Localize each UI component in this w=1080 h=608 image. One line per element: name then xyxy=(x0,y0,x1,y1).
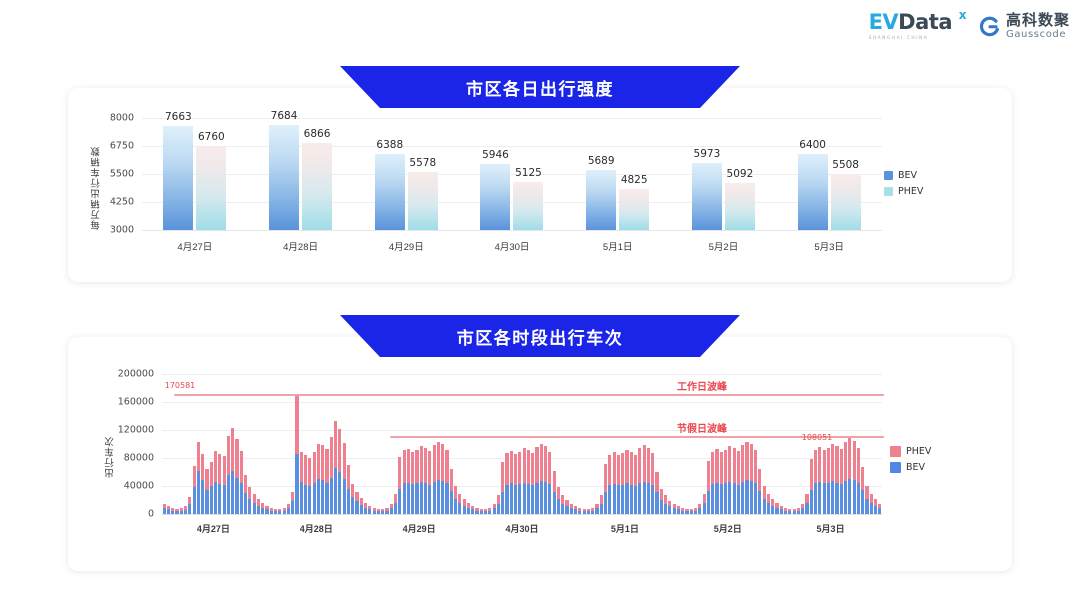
chart2-segment-phev xyxy=(441,444,444,481)
chart2-stacked-bar[interactable] xyxy=(377,509,380,514)
chart1-bar-value-label: 5125 xyxy=(515,167,542,179)
chart2-stacked-bar[interactable] xyxy=(621,453,624,514)
chart2-stacked-bar[interactable] xyxy=(523,448,526,514)
chart2-stacked-bar[interactable] xyxy=(574,506,577,514)
chart2-segment-bev xyxy=(338,472,341,514)
chart2-segment-phev xyxy=(201,454,204,481)
chart2-stacked-bar[interactable] xyxy=(231,428,234,514)
chart2-segment-phev xyxy=(664,495,667,503)
chart2-segment-phev xyxy=(707,461,710,491)
chart2-segment-phev xyxy=(703,494,706,503)
chart2-segment-phev xyxy=(741,445,744,482)
chart2-stacked-bar[interactable] xyxy=(244,475,247,514)
chart2-segment-phev xyxy=(338,429,341,472)
chart2-stacked-bar[interactable] xyxy=(411,452,414,514)
chart2-stacked-bar[interactable] xyxy=(535,447,538,514)
chart2-segment-bev xyxy=(257,506,260,514)
chart2-stacked-bar[interactable] xyxy=(454,486,457,514)
chart2-stacked-bar[interactable] xyxy=(270,508,273,514)
chart1-bar-value-label: 5578 xyxy=(409,157,436,169)
chart1-legend-item-bev[interactable]: BEV xyxy=(884,170,923,181)
chart2-stacked-bar[interactable] xyxy=(424,448,427,514)
chart2-stacked-bar[interactable] xyxy=(707,461,710,514)
chart1-bar-phev[interactable]: 4825 xyxy=(619,189,649,230)
chart2-segment-phev xyxy=(433,445,436,482)
chart2-stacked-bar[interactable] xyxy=(660,489,663,514)
chart2-stacked-bar[interactable] xyxy=(878,504,881,514)
chart2-segment-bev xyxy=(308,486,311,514)
chart1-x-tick: 4月29日 xyxy=(389,239,424,253)
chart2-stacked-bar[interactable] xyxy=(373,508,376,514)
chart2-stacked-bar[interactable] xyxy=(677,506,680,514)
chart2-stacked-bar[interactable] xyxy=(703,494,706,514)
chart2-segment-phev xyxy=(535,447,538,483)
chart2-segment-bev xyxy=(523,483,526,515)
chart2-segment-phev xyxy=(630,452,633,485)
chart2-stacked-bar[interactable] xyxy=(261,503,264,514)
chart2-stacked-bar[interactable] xyxy=(355,492,358,514)
chart2-stacked-bar[interactable] xyxy=(630,452,633,514)
chart2-stacked-bar[interactable] xyxy=(733,448,736,514)
chart2-stacked-bar[interactable] xyxy=(818,447,821,514)
chart2-segment-bev xyxy=(655,492,658,514)
chart2-stacked-bar[interactable] xyxy=(338,429,341,514)
chart2-stacked-bar[interactable] xyxy=(651,453,654,514)
chart2-segment-phev xyxy=(214,451,217,482)
chart2-segment-phev xyxy=(621,453,624,485)
chart2-stacked-bar[interactable] xyxy=(223,456,226,514)
chart1-bar-group: 56894825 xyxy=(565,118,671,230)
chart2-stacked-bar[interactable] xyxy=(471,506,474,514)
chart2-stacked-bar[interactable] xyxy=(835,446,838,514)
chart2-stacked-bar[interactable] xyxy=(853,441,856,514)
chart2-segment-bev xyxy=(531,485,534,514)
chart2-stacked-bar[interactable] xyxy=(673,504,676,514)
chart2-stacked-bar[interactable] xyxy=(720,452,723,514)
chart2-stacked-bar[interactable] xyxy=(784,508,787,514)
chart2-segment-bev xyxy=(557,499,560,514)
chart2-stacked-bar[interactable] xyxy=(758,469,761,514)
chart2-stacked-bar[interactable] xyxy=(351,484,354,514)
chart2-stacked-bar[interactable] xyxy=(625,450,628,514)
chart2-segment-bev xyxy=(261,508,264,514)
chart2-segment-bev xyxy=(797,511,800,515)
chart2-stacked-bar[interactable] xyxy=(180,508,183,514)
chart2-stacked-bar[interactable] xyxy=(604,464,607,514)
chart2-stacked-bar[interactable] xyxy=(780,506,783,514)
chart2-stacked-bar[interactable] xyxy=(698,504,701,514)
chart1-bar-phev[interactable]: 5125 xyxy=(513,182,543,230)
chart2-stacked-bar[interactable] xyxy=(167,506,170,514)
chart2-stacked-bar[interactable] xyxy=(827,448,830,515)
chart2-x-tick: 4月30日 xyxy=(505,522,538,535)
chart2-stacked-bar[interactable] xyxy=(300,452,303,514)
chart2-stacked-bar[interactable] xyxy=(518,452,521,514)
chart2-stacked-bar[interactable] xyxy=(321,445,324,514)
chart2-segment-phev xyxy=(235,439,238,478)
evdata-superscript-x: x xyxy=(959,9,966,21)
chart2-stacked-bar[interactable] xyxy=(484,509,487,514)
chart2-stacked-bar[interactable] xyxy=(544,446,547,514)
chart2-stacked-bar[interactable] xyxy=(497,495,500,514)
chart2-stacked-bar[interactable] xyxy=(750,444,753,514)
chart2-stacked-bar[interactable] xyxy=(531,453,534,514)
chart2-stacked-bar[interactable] xyxy=(771,499,774,514)
chart1-bar-phev[interactable]: 6866 xyxy=(302,143,332,230)
chart2-segment-phev xyxy=(754,450,757,484)
chart2-stacked-bar[interactable] xyxy=(763,486,766,514)
chart2-stacked-bar[interactable] xyxy=(724,450,727,514)
chart2-stacked-bar[interactable] xyxy=(304,455,307,514)
chart2-segment-bev xyxy=(694,511,697,515)
chart1-bar-bev[interactable]: 6388 xyxy=(375,154,405,230)
chart2-stacked-bar[interactable] xyxy=(334,421,337,514)
evdata-subtitle: SHANGHAI CHINA xyxy=(869,36,952,41)
chart2-stacked-bar[interactable] xyxy=(163,504,166,514)
chart2-segment-phev xyxy=(244,475,247,493)
chart2-stacked-bar[interactable] xyxy=(433,445,436,514)
chart2-stacked-bar[interactable] xyxy=(527,450,530,514)
chart2-segment-bev xyxy=(844,481,847,514)
chart2-stacked-bar[interactable] xyxy=(583,509,586,514)
chart2-stacked-bar[interactable] xyxy=(715,449,718,514)
chart2-stacked-bar[interactable] xyxy=(655,472,658,514)
chart2-stacked-bar[interactable] xyxy=(557,487,560,514)
chart2-stacked-bar[interactable] xyxy=(265,506,268,514)
chart2-stacked-bar[interactable] xyxy=(415,450,418,514)
chart2-segment-bev xyxy=(758,491,761,514)
chart2-stacked-bar[interactable] xyxy=(861,467,864,514)
chart1-bar-bev[interactable]: 5946 xyxy=(480,164,510,230)
chart2-stacked-bar[interactable] xyxy=(437,442,440,514)
chart2-legend-item-phev[interactable]: PHEV xyxy=(890,446,931,457)
chart1-bar-group: 59735092 xyxy=(671,118,777,230)
chart2-segment-bev xyxy=(728,482,731,514)
chart1-bar-bev[interactable]: 5973 xyxy=(692,163,722,230)
chart2-stacked-bar[interactable] xyxy=(458,494,461,514)
chart2-stacked-bar[interactable] xyxy=(441,444,444,514)
chart2-x-tick: 4月28日 xyxy=(300,522,333,535)
chart2-segment-phev xyxy=(458,494,461,503)
chart2-stacked-bar[interactable] xyxy=(463,499,466,514)
chart2-stacked-bar[interactable] xyxy=(613,452,616,514)
chart2-stacked-bar[interactable] xyxy=(587,509,590,514)
chart2-stacked-bar[interactable] xyxy=(330,437,333,514)
daily-travel-intensity-chart: 每万辆出行车辆数 30004250550067508000 7663676076… xyxy=(84,112,944,272)
chart2-stacked-bar[interactable] xyxy=(501,462,504,514)
chart2-segment-bev xyxy=(754,483,757,514)
chart2-segment-phev xyxy=(604,464,607,492)
legend-swatch-icon xyxy=(884,171,893,180)
chart2-segment-phev xyxy=(711,452,714,484)
chart2-stacked-bar[interactable] xyxy=(810,459,813,514)
chart2-stacked-bar[interactable] xyxy=(313,452,316,514)
chart2-segment-bev xyxy=(493,508,496,514)
chart2-stacked-bar[interactable] xyxy=(347,465,350,514)
chart2-segment-bev xyxy=(501,492,504,514)
chart2-segment-bev xyxy=(673,508,676,514)
chart2-stacked-bar[interactable] xyxy=(467,503,470,514)
chart2-stacked-bar[interactable] xyxy=(638,448,641,514)
chart2-y-tick: 120000 xyxy=(118,425,154,436)
chart2-stacked-bar[interactable] xyxy=(793,509,796,514)
chart2-legend-item-bev[interactable]: BEV xyxy=(890,462,931,473)
chart2-segment-phev xyxy=(424,448,427,483)
chart2-stacked-bar[interactable] xyxy=(865,486,868,514)
chart2-segment-bev xyxy=(283,511,286,515)
chart2-stacked-bar[interactable] xyxy=(248,487,251,514)
chart2-segment-bev xyxy=(741,482,744,514)
chart2-segment-bev xyxy=(454,499,457,514)
chart1-bar-phev[interactable]: 5092 xyxy=(725,183,755,230)
chart2-stacked-bar[interactable] xyxy=(364,503,367,514)
holiday-peak-label: 节假日波峰 xyxy=(677,420,727,435)
chart2-segment-bev xyxy=(565,506,568,514)
chart2-segment-phev xyxy=(308,458,311,486)
chart2-stacked-bar[interactable] xyxy=(505,453,508,514)
chart2-segment-bev xyxy=(497,504,500,515)
chart2-segment-bev xyxy=(578,511,581,515)
chart2-stacked-bar[interactable] xyxy=(634,455,637,515)
chart1-bar-phev[interactable]: 5508 xyxy=(831,174,861,230)
chart1-bar-bev[interactable]: 7684 xyxy=(269,125,299,230)
chart2-segment-bev xyxy=(617,485,620,514)
chart2-segment-phev xyxy=(321,445,324,480)
chart2-stacked-bar[interactable] xyxy=(857,448,860,515)
chart2-segment-bev xyxy=(175,511,178,514)
chart2-stacked-bar[interactable] xyxy=(831,444,834,514)
chart2-stacked-bar[interactable] xyxy=(227,436,230,514)
chart2-stacked-bar[interactable] xyxy=(767,494,770,514)
chart2-stacked-bar[interactable] xyxy=(403,450,406,514)
chart2-stacked-bar[interactable] xyxy=(450,469,453,514)
chart2-stacked-bar[interactable] xyxy=(561,495,564,514)
chart2-stacked-bar[interactable] xyxy=(295,394,298,514)
chart2-stacked-bar[interactable] xyxy=(578,508,581,514)
chart2-stacked-bar[interactable] xyxy=(668,501,671,514)
chart2-stacked-bar[interactable] xyxy=(278,509,281,514)
chart2-stacked-bar[interactable] xyxy=(737,451,740,514)
chart2-stacked-bar[interactable] xyxy=(741,445,744,514)
chart1-bar-group: 63885578 xyxy=(353,118,459,230)
chart1-bar-bev[interactable]: 7663 xyxy=(163,126,193,230)
chart2-segment-bev xyxy=(377,511,380,514)
chart2-segment-bev xyxy=(201,480,204,514)
chart2-segment-bev xyxy=(775,508,778,514)
chart2-y-axis-label: 出行车次 xyxy=(104,408,118,478)
chart2-segment-phev xyxy=(420,446,423,482)
chart2-stacked-bar[interactable] xyxy=(488,508,491,514)
chart1-y-tick: 5500 xyxy=(110,169,134,180)
chart2-stacked-bar[interactable] xyxy=(617,455,620,514)
chart2-segment-bev xyxy=(745,480,748,514)
chart2-stacked-bar[interactable] xyxy=(870,494,873,514)
chart2-stacked-bar[interactable] xyxy=(600,495,603,514)
chart2-stacked-bar[interactable] xyxy=(801,504,804,514)
chart2-segment-bev xyxy=(398,489,401,514)
chart2-stacked-bar[interactable] xyxy=(274,509,277,514)
chart2-stacked-bar[interactable] xyxy=(240,451,243,514)
chart2-stacked-bar[interactable] xyxy=(595,504,598,514)
chart2-stacked-bar[interactable] xyxy=(553,471,556,514)
chart1-bar-phev[interactable]: 5578 xyxy=(408,172,438,230)
chart2-stacked-bar[interactable] xyxy=(257,499,260,514)
chart2-segment-bev xyxy=(193,487,196,514)
chart2-segment-phev xyxy=(450,469,453,491)
chart2-segment-phev xyxy=(861,467,864,490)
chart2-stacked-bar[interactable] xyxy=(428,451,431,514)
chart2-stacked-bar[interactable] xyxy=(805,494,808,514)
chart2-stacked-bar[interactable] xyxy=(394,494,397,514)
chart2-segment-bev xyxy=(223,485,226,514)
chart2-stacked-bar[interactable] xyxy=(647,448,650,515)
chart2-segment-bev xyxy=(463,506,466,514)
chart2-stacked-bar[interactable] xyxy=(390,504,393,514)
chart2-segment-bev xyxy=(583,511,586,514)
chart2-stacked-bar[interactable] xyxy=(570,504,573,514)
chart2-segment-bev xyxy=(510,483,513,514)
chart2-stacked-bar[interactable] xyxy=(681,508,684,514)
chart2-segment-bev xyxy=(163,508,166,514)
chart2-segment-phev xyxy=(634,455,637,487)
chart2-segment-bev xyxy=(227,475,230,514)
chart2-stacked-bar[interactable] xyxy=(510,451,513,514)
chart1-bar-group: 76636760 xyxy=(142,118,248,230)
chart2-segment-bev xyxy=(317,479,320,514)
chart2-stacked-bar[interactable] xyxy=(175,509,178,514)
chart2-stacked-bar[interactable] xyxy=(287,504,290,514)
chart2-stacked-bar[interactable] xyxy=(823,450,826,514)
chart1-x-tick: 5月3日 xyxy=(814,239,844,253)
chart2-stacked-bar[interactable] xyxy=(325,449,328,514)
chart2-stacked-bar[interactable] xyxy=(840,449,843,514)
chart2-segment-phev xyxy=(501,462,504,491)
chart2-stacked-bar[interactable] xyxy=(754,450,757,514)
chart2-stacked-bar[interactable] xyxy=(548,452,551,514)
chart2-segment-bev xyxy=(570,508,573,514)
chart2-stacked-bar[interactable] xyxy=(690,509,693,514)
chart2-stacked-bar[interactable] xyxy=(814,450,817,514)
chart2-stacked-bar[interactable] xyxy=(360,498,363,514)
chart2-stacked-bar[interactable] xyxy=(193,466,196,514)
chart1-bar-value-label: 7684 xyxy=(271,110,298,122)
chart2-stacked-bar[interactable] xyxy=(788,509,791,514)
chart2-segment-bev xyxy=(591,511,594,515)
chart2-stacked-bar[interactable] xyxy=(797,508,800,514)
chart2-legend: PHEVBEV xyxy=(890,446,931,473)
evdata-ev-text: EV xyxy=(869,10,899,34)
chart2-stacked-bar[interactable] xyxy=(291,492,294,514)
chart2-stacked-bar[interactable] xyxy=(317,444,320,514)
chart2-stacked-bar[interactable] xyxy=(420,446,423,514)
chart2-stacked-bar[interactable] xyxy=(385,508,388,514)
chart2-stacked-bar[interactable] xyxy=(368,506,371,514)
chart1-bar-bev[interactable]: 5689 xyxy=(586,170,616,230)
chart2-segment-bev xyxy=(347,489,350,514)
chart2-segment-phev xyxy=(218,454,221,484)
chart2-stacked-bar[interactable] xyxy=(685,509,688,514)
chart2-segment-phev xyxy=(347,465,350,489)
chart2-stacked-bar[interactable] xyxy=(184,506,187,514)
chart2-stacked-bar[interactable] xyxy=(540,444,543,514)
legend-swatch-icon xyxy=(890,462,901,473)
chart2-stacked-bar[interactable] xyxy=(608,455,611,514)
chart1-bar-value-label: 5689 xyxy=(588,155,615,167)
panel1-title-banner: 市区各日出行强度 xyxy=(340,66,740,108)
chart2-stacked-bar[interactable] xyxy=(844,442,847,514)
chart2-stacked-bar[interactable] xyxy=(171,508,174,514)
chart2-stacked-bar[interactable] xyxy=(565,500,568,514)
chart2-segment-phev xyxy=(253,494,256,502)
chart2-stacked-bar[interactable] xyxy=(591,508,594,514)
chart2-stacked-bar[interactable] xyxy=(407,449,410,514)
chart2-stacked-bar[interactable] xyxy=(711,452,714,514)
chart2-stacked-bar[interactable] xyxy=(197,442,200,514)
chart2-stacked-bar[interactable] xyxy=(398,457,401,514)
weekday-peak-line xyxy=(174,394,884,396)
chart2-stacked-bar[interactable] xyxy=(775,503,778,514)
chart2-segment-phev xyxy=(853,441,856,480)
chart2-segment-phev xyxy=(523,448,526,482)
chart2-segment-phev xyxy=(805,494,808,503)
chart1-legend-item-phev[interactable]: PHEV xyxy=(884,186,923,197)
chart2-stacked-bar[interactable] xyxy=(343,443,346,514)
chart2-stacked-bar[interactable] xyxy=(664,495,667,514)
chart2-segment-phev xyxy=(865,486,868,499)
chart2-segment-phev xyxy=(823,450,826,484)
chart2-stacked-bar[interactable] xyxy=(308,458,311,514)
chart2-stacked-bar[interactable] xyxy=(643,445,646,514)
chart2-segment-bev xyxy=(801,508,804,514)
chart2-stacked-bar[interactable] xyxy=(480,509,483,514)
chart2-segment-bev xyxy=(827,483,830,515)
chart2-stacked-bar[interactable] xyxy=(201,454,204,514)
chart2-stacked-bar[interactable] xyxy=(218,454,221,514)
chart2-stacked-bar[interactable] xyxy=(283,508,286,514)
chart2-stacked-bar[interactable] xyxy=(694,508,697,514)
chart1-bar-bev[interactable]: 6400 xyxy=(798,154,828,230)
chart2-segment-bev xyxy=(805,503,808,514)
chart2-stacked-bar[interactable] xyxy=(214,451,217,514)
chart2-stacked-bar[interactable] xyxy=(188,497,191,514)
chart2-stacked-bar[interactable] xyxy=(745,442,748,514)
chart1-gridline xyxy=(142,230,882,231)
chart2-segment-phev xyxy=(737,451,740,485)
chart1-bar-phev[interactable]: 6760 xyxy=(196,146,226,230)
chart2-segment-bev xyxy=(690,511,693,514)
chart2-stacked-bar[interactable] xyxy=(728,446,731,514)
chart1-y-axis-label: 每万辆出行车辆数 xyxy=(90,124,104,230)
chart2-stacked-bar[interactable] xyxy=(493,504,496,514)
chart2-stacked-bar[interactable] xyxy=(848,438,851,514)
chart2-segment-bev xyxy=(364,508,367,514)
chart2-stacked-bar[interactable] xyxy=(235,439,238,514)
chart2-stacked-bar[interactable] xyxy=(381,509,384,514)
chart2-segment-bev xyxy=(197,471,200,514)
evdata-logo: EVData x SHANGHAI CHINA xyxy=(869,12,966,41)
chart2-segment-bev xyxy=(240,483,243,514)
chart2-segment-phev xyxy=(638,448,641,483)
chart2-stacked-bar[interactable] xyxy=(445,450,448,514)
chart2-stacked-bar[interactable] xyxy=(210,462,213,515)
chart2-stacked-bar[interactable] xyxy=(205,469,208,514)
chart2-stacked-bar[interactable] xyxy=(475,508,478,514)
chart2-segment-bev xyxy=(278,511,281,514)
chart2-stacked-bar[interactable] xyxy=(253,494,256,514)
chart2-stacked-bar[interactable] xyxy=(514,454,517,514)
chart2-stacked-bar[interactable] xyxy=(874,499,877,514)
chart2-y-tick: 200000 xyxy=(118,369,154,380)
